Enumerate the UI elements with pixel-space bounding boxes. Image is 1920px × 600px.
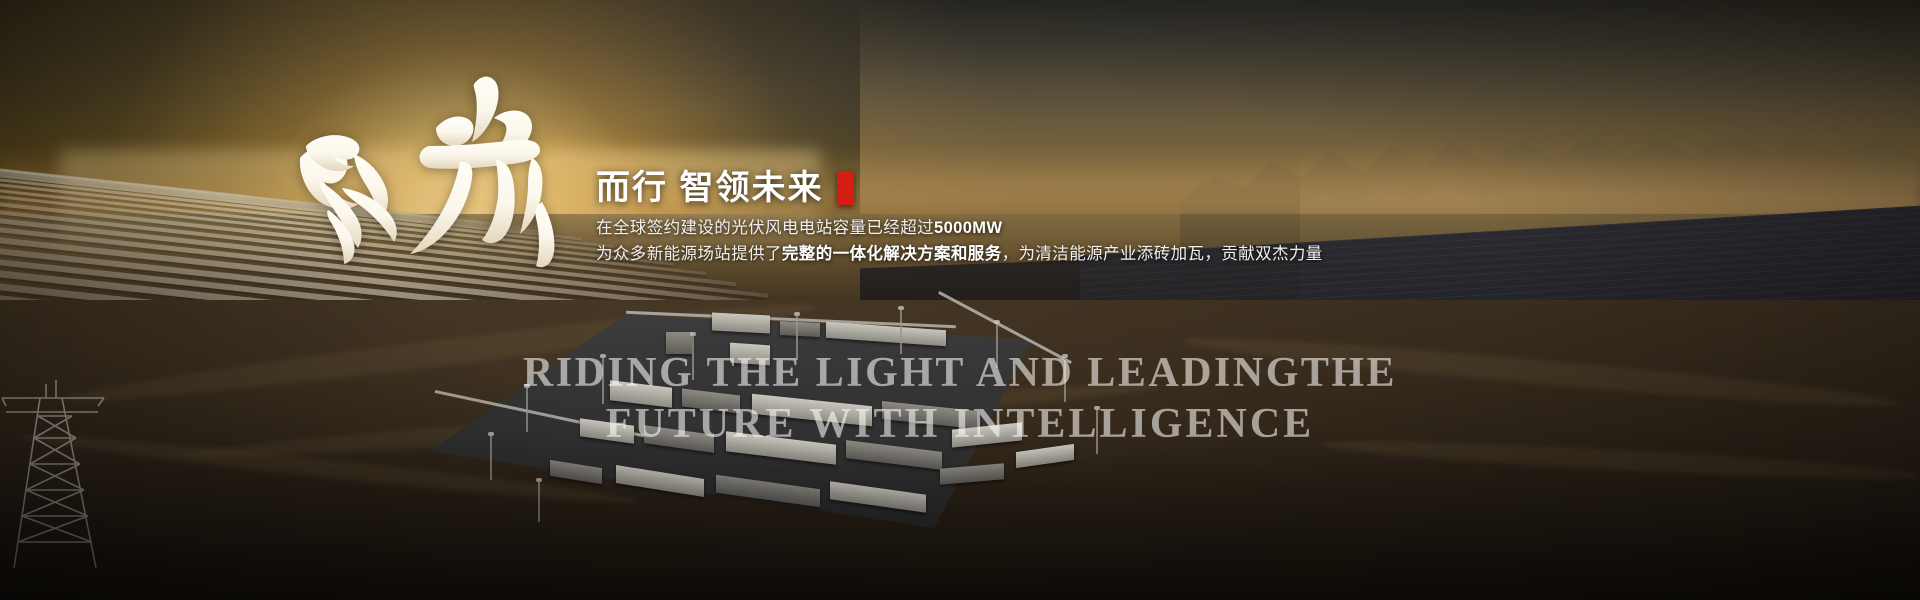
hero-copy: 而行 智领未来 在全球签约建设的光伏风电电站容量已经超过5000MW 为众多新能… [596, 168, 1356, 267]
subtitle-line-1-strong: 5000MW [934, 219, 1002, 237]
headline-text: 而行 智领未来 [596, 168, 823, 208]
subtitle-line-2-strong: 完整的一体化解决方案和服务 [782, 245, 1002, 263]
headline: 而行 智领未来 [596, 168, 1356, 208]
red-accent-mark [837, 171, 854, 205]
transmission-tower-icon [0, 372, 110, 572]
subtitle-line-2: 为众多新能源场站提供了完整的一体化解决方案和服务，为清洁能源产业添砖加瓦，贡献双… [596, 242, 1356, 267]
subtitle-line-1: 在全球签约建设的光伏风电电站容量已经超过5000MW [596, 216, 1356, 241]
hero-banner: 而行 智领未来 在全球签约建设的光伏风电电站容量已经超过5000MW 为众多新能… [0, 0, 1920, 600]
subtitle-line-2-suffix: ，为清洁能源产业添砖加瓦，贡献双杰力量 [1002, 245, 1323, 263]
subtitle-line-1-prefix: 在全球签约建设的光伏风电电站容量已经超过 [596, 219, 934, 237]
subtitle-line-2-prefix: 为众多新能源场站提供了 [596, 245, 782, 263]
substation-facility [430, 296, 1130, 536]
